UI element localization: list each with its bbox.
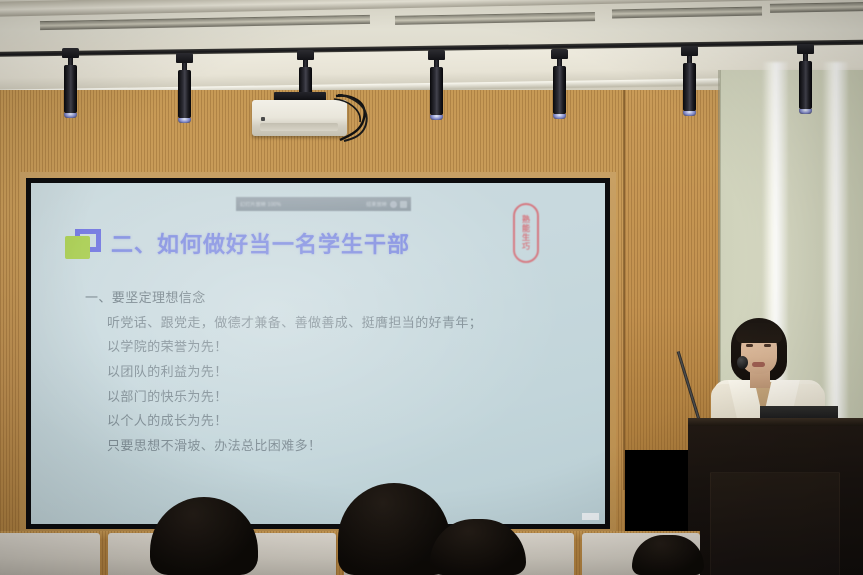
- projector-vent: [260, 123, 338, 131]
- seal-char: 熟: [522, 216, 530, 224]
- track-light: [176, 53, 193, 123]
- expand-icon[interactable]: [400, 201, 407, 208]
- slide-bullet: 以学院的荣誉为先！: [107, 340, 585, 354]
- chair-back[interactable]: [0, 533, 100, 575]
- ceiling-projector: [252, 100, 347, 140]
- ceiling-vent: [612, 7, 762, 19]
- track-light: [428, 50, 445, 120]
- slide-bullet: 以团队的利益为先！: [107, 365, 585, 379]
- wall-light-strip: [822, 62, 848, 442]
- slide-title: 二、如何做好当一名学生干部: [111, 227, 410, 259]
- seal-char: 生: [522, 234, 530, 242]
- slide-bullet: 以部门的快乐为先！: [107, 390, 585, 404]
- speaker-eye: [764, 344, 771, 347]
- slide-logo: [65, 229, 101, 259]
- seal-char: 能: [522, 225, 530, 233]
- seal-char: 巧: [522, 243, 530, 251]
- speaker-eye: [746, 344, 753, 347]
- wood-slat-wall-right: [625, 90, 720, 450]
- ceiling-vent: [40, 15, 370, 30]
- podium: [688, 420, 863, 575]
- projector-indicator-icon: [261, 117, 265, 121]
- pointer-icon[interactable]: [390, 201, 397, 208]
- projector-cables: [334, 94, 374, 142]
- red-seal-stamp: 熟 能 生 巧: [513, 203, 539, 263]
- speaker-mouth: [752, 362, 765, 367]
- slide-bullet: 以个人的成长为先！: [107, 414, 585, 428]
- track-light: [62, 48, 79, 118]
- track-light: [551, 49, 568, 119]
- lecture-hall-photo: 幻灯片放映 100% 结束放映 二、如何做好当一名学生干部 熟 能 生 巧 一、…: [0, 0, 863, 575]
- wall-seam: [623, 90, 625, 490]
- projector-body: [252, 100, 347, 136]
- powerpoint-toolbar[interactable]: 幻灯片放映 100% 结束放映: [236, 197, 411, 211]
- slideshow-status-label: 幻灯片放映 100%: [240, 201, 281, 208]
- track-light: [797, 44, 814, 114]
- podium-top-surface: [688, 418, 863, 426]
- end-show-label: 结束放映: [366, 201, 387, 208]
- slide-body: 一、要坚定理想信念 听党话、跟党走，做德才兼备、善做善成、挺膺担当的好青年； 以…: [85, 291, 585, 452]
- speaker-fringe: [736, 323, 782, 343]
- podium-front-panel: [710, 472, 840, 575]
- microphone-icon: [737, 356, 748, 369]
- slide-bullet: 只要思想不滑坡、办法总比困难多！: [107, 439, 585, 453]
- slide-bullet: 听党话、跟党走，做德才兼备、善做善成、挺膺担当的好青年；: [107, 316, 585, 330]
- track-light: [681, 46, 698, 116]
- ceiling-vent: [395, 12, 595, 25]
- slide-heading: 一、要坚定理想信念: [85, 291, 585, 305]
- logo-green-square-icon: [65, 236, 90, 259]
- ceiling-vent: [770, 2, 863, 13]
- projection-screen[interactable]: 幻灯片放映 100% 结束放映 二、如何做好当一名学生干部 熟 能 生 巧 一、…: [31, 183, 605, 524]
- screen-corner-mark: [582, 513, 599, 520]
